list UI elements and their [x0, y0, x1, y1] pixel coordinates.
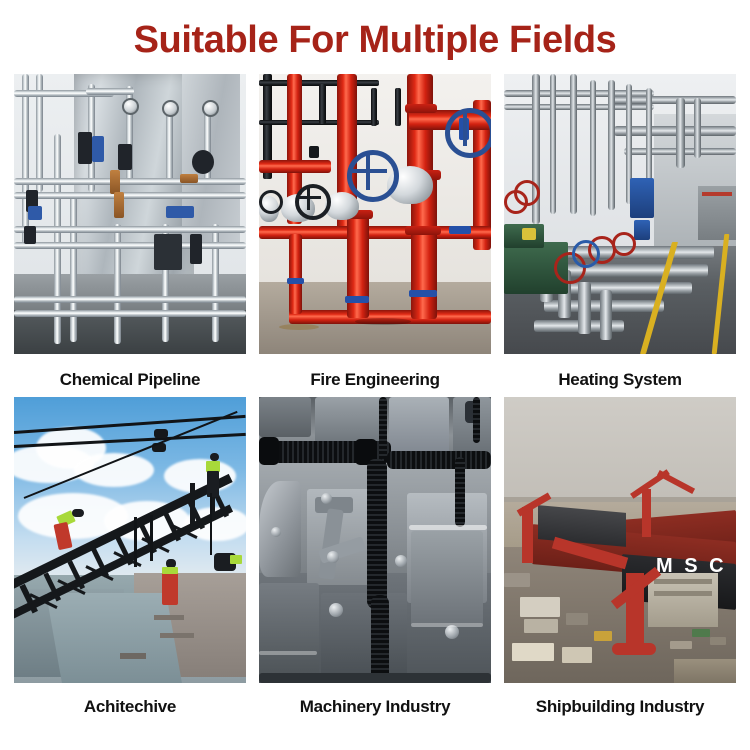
- worker: [207, 471, 219, 497]
- caption-chemical-pipeline: Chemical Pipeline: [14, 354, 246, 397]
- photo-machinery: [259, 397, 491, 683]
- handwheel-icon: [612, 232, 636, 256]
- corrugated-hose: [367, 459, 387, 609]
- handwheel-icon: [295, 184, 331, 220]
- photo-chemical-pipeline: [14, 74, 246, 354]
- grid-row-1: Chemical Pipeline: [14, 74, 736, 397]
- caption-architecture: Achitechive: [14, 683, 246, 724]
- image-grid: Chemical Pipeline: [14, 74, 736, 724]
- caption-fire-engineering: Fire Engineering: [259, 354, 491, 397]
- photo-heating-system: [504, 74, 736, 354]
- handwheel-icon: [259, 190, 283, 214]
- caption-heating-system: Heating System: [504, 354, 736, 397]
- promo-banner: Suitable For Multiple Fields: [0, 0, 750, 750]
- pressure-gauge-icon: [122, 98, 139, 115]
- handwheel-icon: [514, 180, 540, 206]
- photo-fire-engineering: [259, 74, 491, 354]
- grid-cell-machinery[interactable]: Machinery Industry: [259, 397, 491, 724]
- wiring-loom: [473, 397, 480, 443]
- corrugated-hose: [371, 595, 389, 683]
- grid-cell-fire-engineering[interactable]: Fire Engineering: [259, 74, 491, 397]
- pressure-gauge-icon: [202, 100, 219, 117]
- grid-cell-heating-system[interactable]: Heating System: [504, 74, 736, 397]
- photo-architecture: [14, 397, 246, 683]
- handwheel-icon: [445, 108, 491, 158]
- bolt-icon: [271, 527, 281, 537]
- corrugated-hose: [387, 451, 491, 469]
- handwheel-icon: [347, 150, 399, 202]
- page-title: Suitable For Multiple Fields: [0, 18, 750, 62]
- wiring-loom: [379, 397, 387, 459]
- photo-shipbuilding: M S C: [504, 397, 736, 683]
- grid-row-2: Achitechive: [14, 397, 736, 724]
- grid-cell-shipbuilding[interactable]: M S C: [504, 397, 736, 724]
- pressure-gauge-icon: [162, 100, 179, 117]
- bolt-icon: [445, 625, 459, 639]
- grid-cell-architecture[interactable]: Achitechive: [14, 397, 246, 724]
- grid-cell-chemical-pipeline[interactable]: Chemical Pipeline: [14, 74, 246, 397]
- ship-name-label: M S C: [656, 555, 727, 578]
- bolt-icon: [395, 555, 407, 567]
- caption-machinery: Machinery Industry: [259, 683, 491, 724]
- worker: [162, 569, 178, 605]
- bolt-icon: [321, 493, 332, 504]
- bolt-icon: [327, 551, 339, 563]
- caption-shipbuilding: Shipbuilding Industry: [504, 683, 736, 724]
- bolt-icon: [329, 603, 343, 617]
